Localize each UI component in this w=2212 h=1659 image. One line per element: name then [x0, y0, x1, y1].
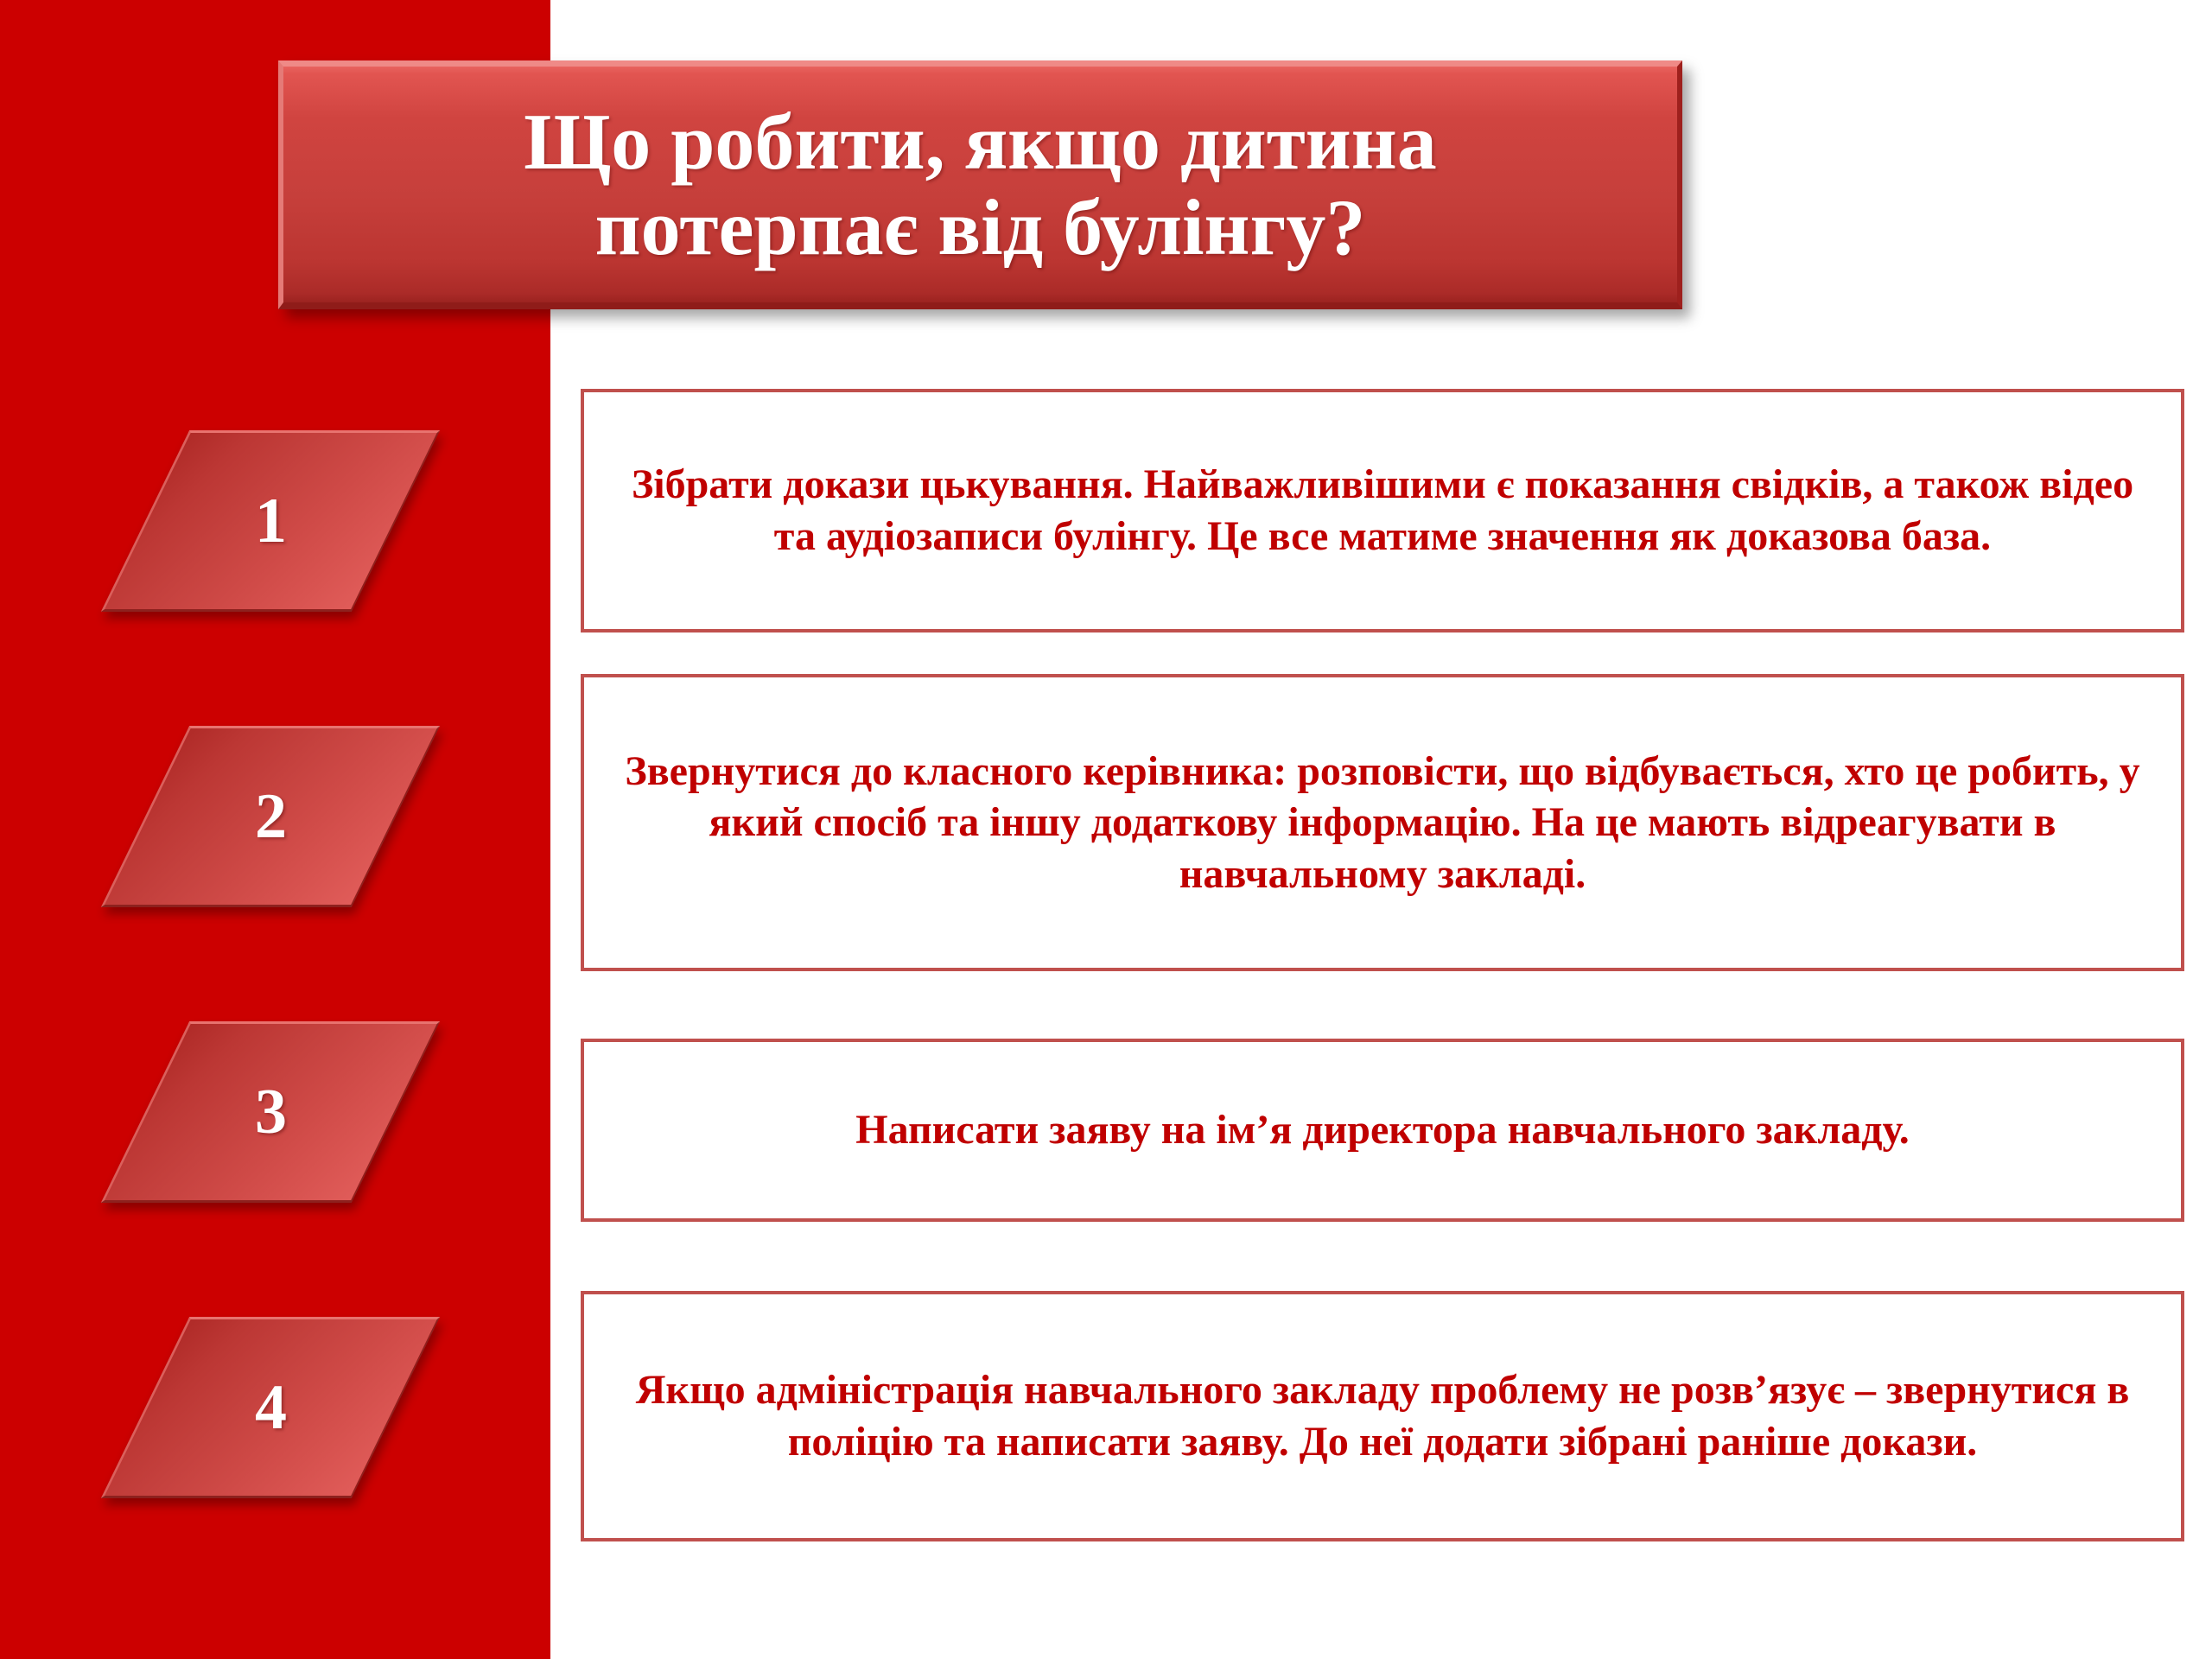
step-content-box-3: Написати заяву на ім’я директора навчаль… — [581, 1039, 2184, 1222]
step-content-text: Якщо адміністрація навчального закладу п… — [584, 1364, 2181, 1467]
slide-title-banner: Що робити, якщо дитина потерпає від булі… — [278, 60, 1682, 309]
step-number-badge-2: 2 — [101, 726, 440, 907]
step-number-label: 4 — [148, 1319, 394, 1496]
step-number-label: 2 — [148, 728, 394, 905]
step-number-label: 1 — [148, 433, 394, 609]
page-title-line-2: потерпає від булінгу? — [595, 183, 1366, 271]
page-title: Що робити, якщо дитина потерпає від булі… — [508, 99, 1452, 270]
step-number-label: 3 — [148, 1024, 394, 1200]
step-content-box-2: Звернутися до класного керівника: розпов… — [581, 674, 2184, 971]
step-content-text: Написати заяву на ім’я директора навчаль… — [831, 1104, 1933, 1156]
step-content-text: Звернутися до класного керівника: розпов… — [584, 746, 2181, 900]
step-number-badge-4: 4 — [101, 1317, 440, 1498]
step-number-badge-1: 1 — [101, 430, 440, 612]
page-title-line-1: Що робити, якщо дитина — [524, 98, 1437, 186]
step-content-box-4: Якщо адміністрація навчального закладу п… — [581, 1291, 2184, 1541]
step-number-badge-3: 3 — [101, 1021, 440, 1203]
step-content-text: Зібрати докази цькування. Найважливішими… — [584, 459, 2181, 562]
step-content-box-1: Зібрати докази цькування. Найважливішими… — [581, 389, 2184, 632]
